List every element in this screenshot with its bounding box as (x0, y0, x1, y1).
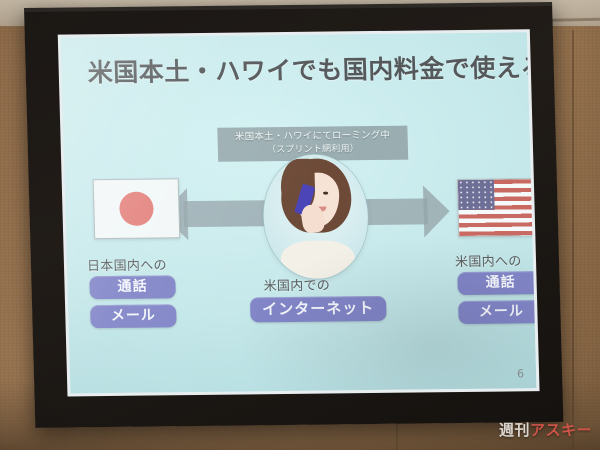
left-destination-caption: 日本国内への (87, 254, 167, 274)
center-destination-caption: 米国内での (263, 275, 330, 295)
watermark-text-primary: 週刊 (499, 421, 530, 439)
arrow-head-right-icon (423, 185, 450, 237)
presentation-slide: 米国本土・ハワイでも国内料金で使える 米国本土・ハワイにてローミング中 （スプリ… (61, 32, 537, 393)
slide-page-number: 6 (517, 367, 524, 380)
service-pill-usa-mail[interactable]: メール (458, 300, 536, 324)
portrait-eye-right (323, 192, 328, 195)
usa-flag-icon (457, 178, 537, 237)
service-pill-usa-call[interactable]: 通話 (457, 271, 536, 295)
service-pill-internet[interactable]: インターネット (250, 296, 387, 323)
projection-screen: 米国本土・ハワイでも国内料金で使える 米国本土・ハワイにてローミング中 （スプリ… (24, 2, 563, 428)
service-pill-japan-mail[interactable]: メール (90, 304, 177, 328)
woman-on-smartphone-photo (262, 154, 369, 279)
screen-surface: 米国本土・ハワイでも国内料金で使える 米国本土・ハワイにてローミング中 （スプリ… (61, 32, 537, 393)
service-pill-japan-call[interactable]: 通話 (89, 275, 176, 299)
page-title: 米国本土・ハワイでも国内料金で使える (87, 54, 518, 86)
watermark: 週刊アスキー (499, 419, 592, 440)
watermark-text-secondary: アスキー (530, 421, 592, 439)
japan-flag-sun (119, 192, 154, 226)
portrait-body (280, 240, 355, 279)
japan-flag-icon (93, 178, 181, 239)
roaming-status-line-1: 米国本土・ハワイにてローミング中 (223, 130, 401, 145)
usa-flag-canton (458, 180, 495, 210)
photo-scene: 米国本土・ハワイでも国内料金で使える 米国本土・ハワイにてローミング中 （スプリ… (0, 0, 600, 450)
right-destination-caption: 米国内への (455, 250, 522, 270)
